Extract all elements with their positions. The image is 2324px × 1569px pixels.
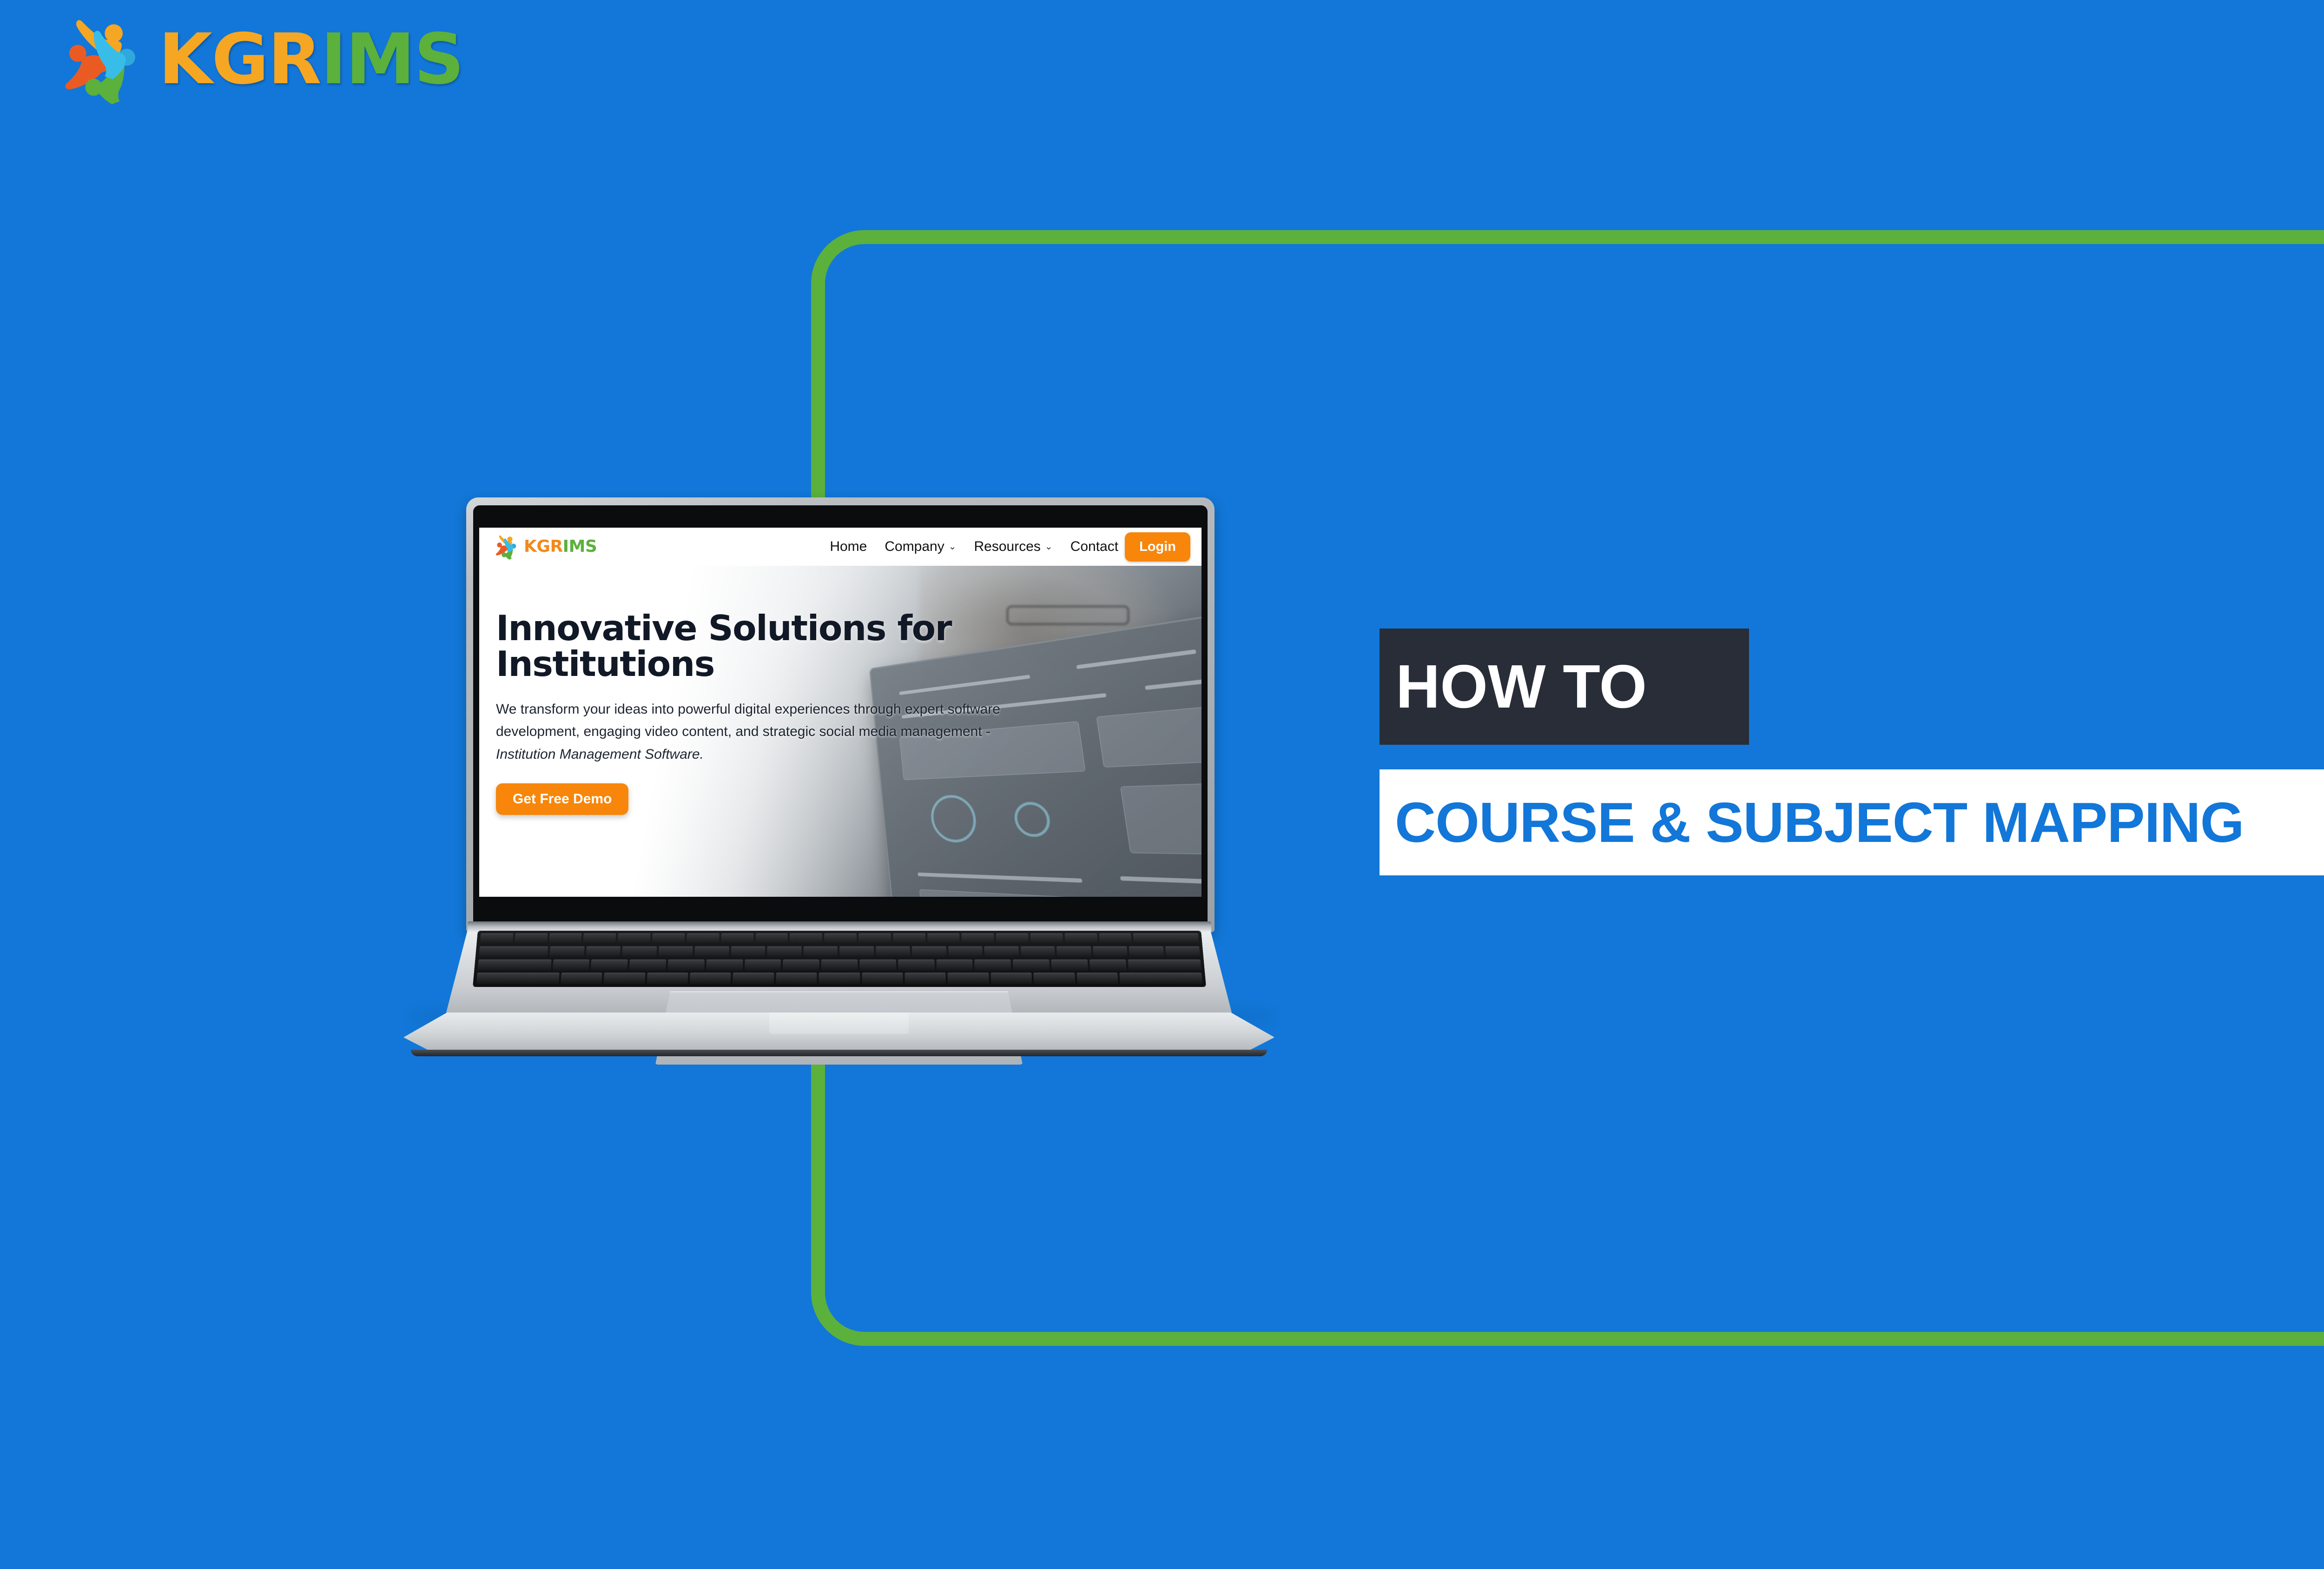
nav-item-company[interactable]: Company ⌄ xyxy=(885,539,956,555)
brand-wordmark: KGRIMS xyxy=(158,25,463,94)
login-button[interactable]: Login xyxy=(1125,532,1190,562)
nav-item-contact-label: Contact xyxy=(1070,539,1118,555)
nav-item-contact[interactable]: Contact xyxy=(1070,539,1118,555)
hero-paragraph-plain: We transform your ideas into powerful di… xyxy=(496,702,1000,740)
nav-item-resources[interactable]: Resources ⌄ xyxy=(974,539,1053,555)
nav-item-resources-label: Resources xyxy=(974,539,1041,555)
title-block: COURSE & SUBJECT MAPPING xyxy=(1380,769,2324,875)
get-free-demo-button[interactable]: Get Free Demo xyxy=(496,783,628,815)
site-logo[interactable]: KGRIMS xyxy=(493,532,597,561)
hero-title-line2: Institutions xyxy=(496,646,1044,682)
hero-text-group: Innovative Solutions for Institutions We… xyxy=(496,610,1044,815)
chevron-down-icon: ⌄ xyxy=(949,542,957,551)
laptop-keyboard xyxy=(473,931,1206,987)
people-pinwheel-icon xyxy=(493,532,522,561)
eyebrow-block: HOW TO xyxy=(1380,629,1749,745)
nav-item-home[interactable]: Home xyxy=(830,539,867,555)
site-navbar: KGRIMS Home Company ⌄ Resources xyxy=(479,528,1202,566)
brand-wordmark-part2: IMS xyxy=(321,19,463,100)
hero-paragraph-italic: Institution Management Software. xyxy=(496,747,704,762)
site-logo-wordmark: KGRIMS xyxy=(524,538,597,555)
site-logo-part1: KGR xyxy=(524,537,563,556)
laptop-lid: KGRIMS Home Company ⌄ Resources xyxy=(466,497,1215,932)
hero-title: Innovative Solutions for Institutions xyxy=(496,610,1044,682)
chevron-down-icon: ⌄ xyxy=(1045,542,1053,551)
page-title: COURSE & SUBJECT MAPPING xyxy=(1395,794,2244,851)
laptop-deck xyxy=(376,921,1301,1038)
brand-wordmark-part1: KGR xyxy=(158,19,321,100)
site-hero: Innovative Solutions for Institutions We… xyxy=(479,566,1202,897)
nav-item-company-label: Company xyxy=(885,539,944,555)
laptop-screen: KGRIMS Home Company ⌄ Resources xyxy=(479,528,1202,897)
laptop-base-lip xyxy=(411,1050,1267,1056)
hero-title-line1: Innovative Solutions for xyxy=(496,610,1044,646)
laptop-mockup: KGRIMS Home Company ⌄ Resources xyxy=(376,497,1301,1046)
brand-logo[interactable]: KGRIMS xyxy=(56,9,463,109)
laptop-base-notch xyxy=(769,1013,909,1034)
site-nav-links: Home Company ⌄ Resources ⌄ Contact xyxy=(830,539,1125,555)
people-pinwheel-icon xyxy=(56,9,156,109)
eyebrow-text: HOW TO xyxy=(1396,656,1647,717)
nav-item-home-label: Home xyxy=(830,539,867,555)
hero-paragraph: We transform your ideas into powerful di… xyxy=(496,698,1030,766)
site-logo-part2: IMS xyxy=(563,537,597,556)
laptop-bezel: KGRIMS Home Company ⌄ Resources xyxy=(473,505,1208,926)
